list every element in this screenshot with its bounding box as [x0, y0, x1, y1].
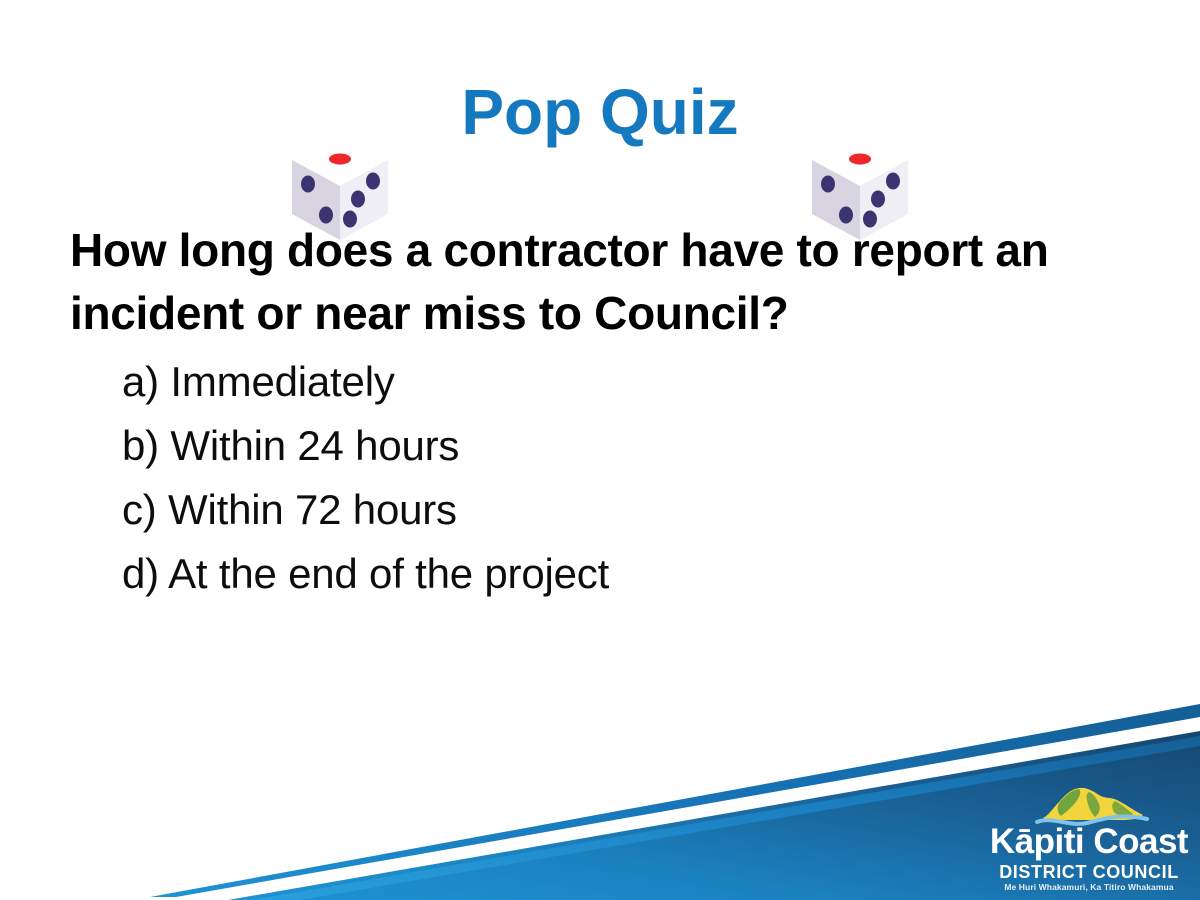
slide: Pop Quiz How long does a contractor have… [0, 0, 1200, 900]
quiz-options-list: a) Immediately b) Within 24 hours c) Wit… [122, 350, 1022, 606]
quiz-question: How long does a contractor have to repor… [70, 219, 1100, 345]
quiz-option-b[interactable]: b) Within 24 hours [122, 414, 1022, 478]
dice-pip [351, 191, 365, 208]
dice-top-pip [849, 154, 871, 165]
dice-pip [366, 173, 380, 190]
dice-pip [871, 191, 885, 208]
logo-name: Kāpiti Coast [983, 822, 1195, 862]
dice-pip [886, 173, 900, 190]
quiz-option-d[interactable]: d) At the end of the project [122, 542, 1022, 606]
logo-subtitle: DISTRICT COUNCIL [983, 862, 1195, 882]
dice-top-pip [329, 154, 351, 165]
title-row: Pop Quiz [0, 62, 1200, 187]
page-title: Pop Quiz [0, 70, 1200, 154]
dice-pip [301, 176, 315, 193]
kapiti-coast-district-council-logo: Kāpiti Coast DISTRICT COUNCIL Me Huri Wh… [983, 782, 1195, 894]
quiz-option-c[interactable]: c) Within 72 hours [122, 478, 1022, 542]
dice-pip [821, 176, 835, 193]
quiz-option-a[interactable]: a) Immediately [122, 350, 1022, 414]
logo-motto: Me Huri Whakamuri, Ka Titiro Whakamua [983, 882, 1195, 893]
